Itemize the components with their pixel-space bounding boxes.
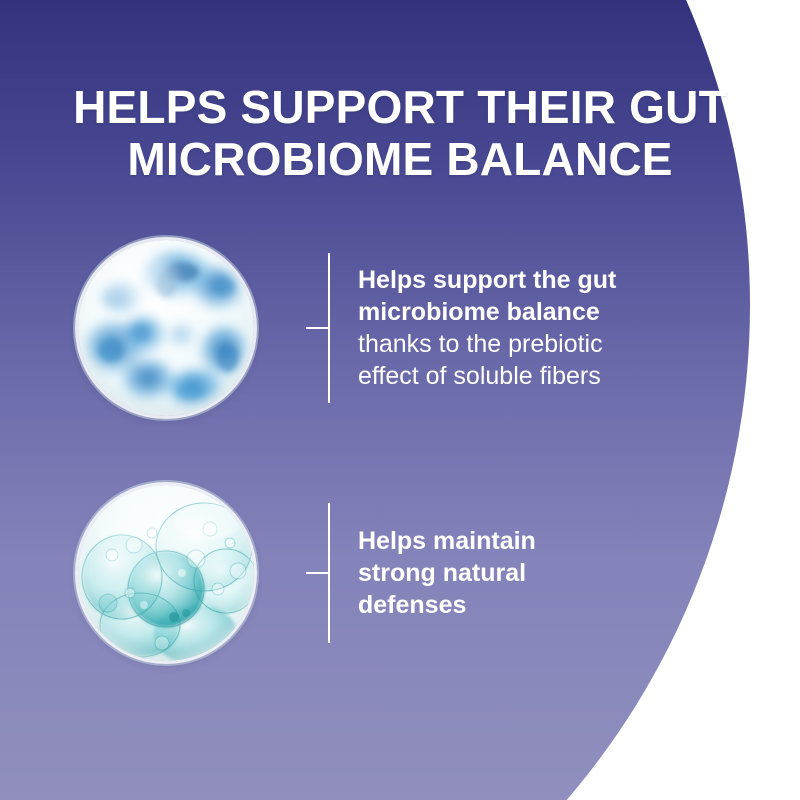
feature-row-natural-defenses: Helps maintain strong natural defenses: [0, 483, 800, 663]
poster-canvas: HELPS SUPPORT THEIR GUT MICROBIOME BALAN…: [0, 0, 800, 800]
petri-dish-bubbles-gel: [78, 485, 254, 661]
feature-text-2: Helps maintain strong natural defenses: [358, 525, 800, 621]
feature-row-gut-microbiome-balance: Helps support the gut microbiome balance…: [0, 238, 800, 418]
feature-2-line-1: Helps maintain: [358, 525, 650, 557]
feature-1-line-2: microbiome balance: [358, 296, 650, 328]
dish-image-2: [78, 485, 254, 661]
feature-1-line-1: Helps support the gut: [358, 264, 650, 296]
dish-2-artwork: [78, 485, 254, 661]
dish-1-artwork: [78, 240, 254, 416]
headline-line-2: MICROBIOME BALANCE: [60, 133, 740, 185]
connector-tick-2: [306, 572, 330, 574]
connector-tick-1: [306, 327, 330, 329]
feature-1-line-3: thanks to the prebiotic: [358, 328, 650, 360]
connector-line-2: [278, 503, 330, 643]
feature-2-line-3: defenses: [358, 589, 650, 621]
feature-2-line-2: strong natural: [358, 557, 650, 589]
headline-line-1: HELPS SUPPORT THEIR GUT: [60, 81, 740, 133]
feature-text-1: Helps support the gut microbiome balance…: [358, 264, 800, 392]
connector-line-1: [278, 253, 330, 403]
feature-1-line-4: effect of soluble fibers: [358, 360, 650, 392]
dish-image-1: [78, 240, 254, 416]
page-title: HELPS SUPPORT THEIR GUT MICROBIOME BALAN…: [0, 81, 800, 185]
petri-dish-bacteria-colonies: [78, 240, 254, 416]
